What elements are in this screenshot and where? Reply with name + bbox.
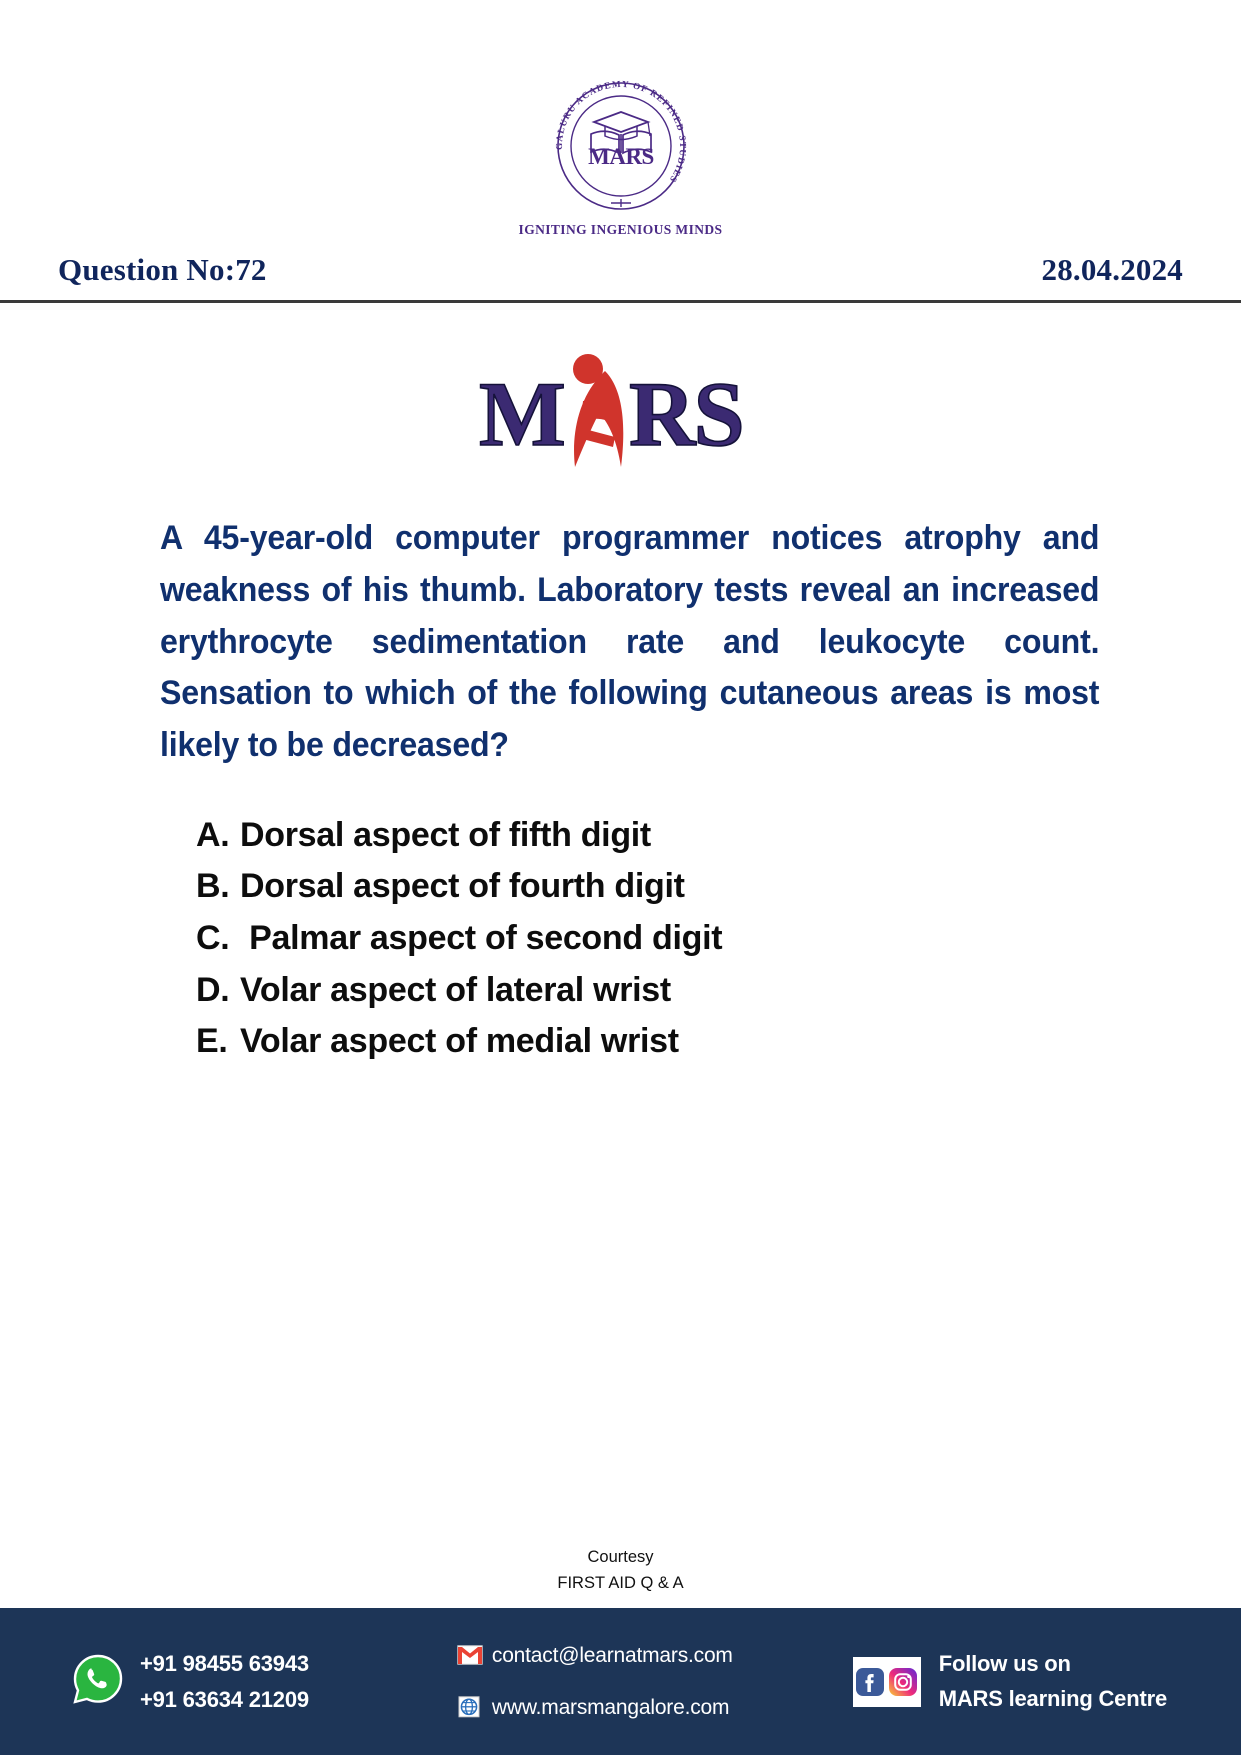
- courtesy-source: FIRST AID Q & A: [0, 1571, 1241, 1597]
- follow-line-2: MARS learning Centre: [939, 1682, 1167, 1716]
- option-e-letter: E.: [196, 1016, 240, 1068]
- social-icons-tile[interactable]: [853, 1657, 921, 1707]
- brand-seal-block: MANGALURU ACADEMY OF REFINED STUDIES MAR…: [0, 0, 1241, 238]
- question-number: Question No:72: [58, 252, 267, 288]
- whatsapp-icon[interactable]: [72, 1653, 124, 1710]
- mars-wordmark-block: M RS: [0, 341, 1241, 471]
- question-date: 28.04.2024: [1042, 252, 1184, 288]
- option-c-letter: C.: [196, 913, 240, 965]
- option-b-letter: B.: [196, 861, 240, 913]
- option-e[interactable]: E. Volar aspect of medial wrist: [196, 1016, 1241, 1068]
- courtesy-label: Courtesy: [0, 1545, 1241, 1571]
- phone-number-1: +91 98455 63943: [140, 1646, 309, 1682]
- option-b[interactable]: B. Dorsal aspect of fourth digit: [196, 861, 1241, 913]
- follow-us-text: Follow us on MARS learning Centre: [939, 1647, 1167, 1715]
- option-a[interactable]: A. Dorsal aspect of fifth digit: [196, 810, 1241, 862]
- option-c[interactable]: C. Palmar aspect of second digit: [196, 913, 1241, 965]
- option-d[interactable]: D. Volar aspect of lateral wrist: [196, 965, 1241, 1017]
- website-line[interactable]: www.marsmangalore.com: [457, 1695, 729, 1720]
- option-e-text: Volar aspect of medial wrist: [240, 1016, 679, 1068]
- header-divider: [0, 300, 1241, 303]
- follow-line-1: Follow us on: [939, 1647, 1167, 1681]
- question-text: A 45-year-old computer programmer notice…: [160, 513, 1099, 772]
- option-d-text: Volar aspect of lateral wrist: [240, 965, 671, 1017]
- gmail-icon: [457, 1645, 483, 1667]
- instagram-icon[interactable]: [888, 1667, 918, 1697]
- option-a-text: Dorsal aspect of fifth digit: [240, 810, 651, 862]
- footer-phone-group: +91 98455 63943 +91 63634 21209: [72, 1646, 309, 1717]
- mars-wordmark-logo: M RS: [471, 341, 771, 471]
- footer-bar: +91 98455 63943 +91 63634 21209 contact@…: [0, 1608, 1241, 1755]
- option-d-letter: D.: [196, 965, 240, 1017]
- phone-number-2: +91 63634 21209: [140, 1682, 309, 1718]
- email-text: contact@learnatmars.com: [492, 1643, 733, 1668]
- website-text: www.marsmangalore.com: [492, 1695, 729, 1720]
- svg-text:MARS: MARS: [588, 144, 654, 169]
- seal-tagline: IGNITING INGENIOUS MINDS: [519, 222, 723, 238]
- option-a-letter: A.: [196, 810, 240, 862]
- svg-text:RS: RS: [629, 363, 743, 465]
- academy-seal-logo: MANGALURU ACADEMY OF REFINED STUDIES MAR…: [547, 72, 695, 220]
- option-b-text: Dorsal aspect of fourth digit: [240, 861, 685, 913]
- option-c-text: Palmar aspect of second digit: [240, 913, 722, 965]
- footer-contact-group: contact@learnatmars.com www.marsmangalor…: [457, 1643, 733, 1719]
- email-line[interactable]: contact@learnatmars.com: [457, 1643, 733, 1668]
- globe-icon: [457, 1696, 483, 1718]
- header-row: Question No:72 28.04.2024: [0, 252, 1241, 288]
- svg-text:M: M: [479, 363, 564, 465]
- footer-social-group: Follow us on MARS learning Centre: [853, 1647, 1167, 1715]
- answer-options-list: A. Dorsal aspect of fifth digit B. Dorsa…: [196, 810, 1241, 1068]
- facebook-icon[interactable]: [855, 1667, 885, 1697]
- courtesy-block: Courtesy FIRST AID Q & A: [0, 1545, 1241, 1596]
- phone-numbers: +91 98455 63943 +91 63634 21209: [140, 1646, 309, 1717]
